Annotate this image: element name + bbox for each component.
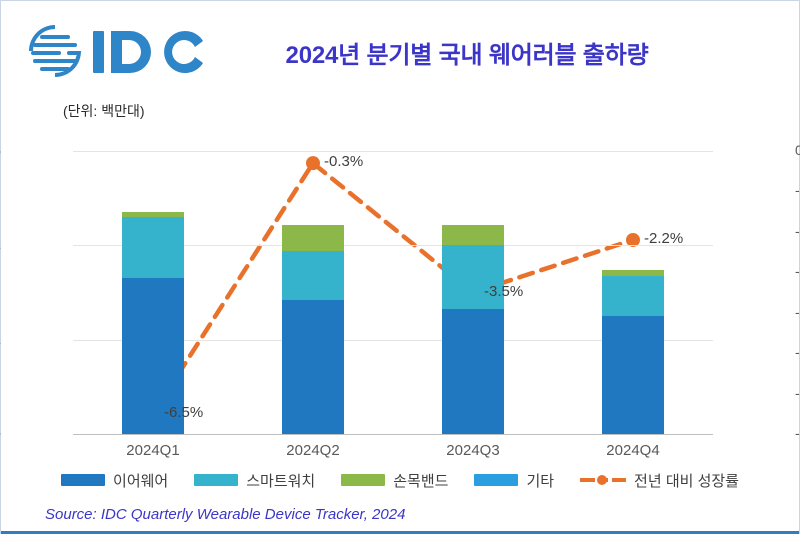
bar-segment-이어웨어[interactable]: [282, 300, 344, 434]
bar-segment-손목밴드[interactable]: [282, 225, 344, 251]
y-axis-left-tick: 1: [0, 331, 1, 348]
legend-label: 기타: [526, 470, 554, 491]
legend-item-손목밴드[interactable]: 손목밴드: [341, 470, 448, 491]
y-axis-right-tick: -5.0%: [795, 344, 800, 360]
bar-segment-손목밴드[interactable]: [602, 270, 664, 276]
bar-segment-이어웨어[interactable]: [602, 316, 664, 434]
chart-header: 2024년 분기별 국내 웨어러블 출하량: [1, 1, 799, 97]
x-axis-tick-2024Q3: 2024Q3: [393, 442, 553, 459]
legend-label: 스마트워치: [246, 470, 315, 491]
growth-line: [153, 163, 633, 414]
x-axis-tick-2024Q4: 2024Q4: [553, 442, 713, 459]
bar-segment-스마트워치[interactable]: [442, 245, 504, 309]
growth-label-2024Q1: -6.5%: [164, 404, 203, 421]
bar-2024Q2[interactable]: [282, 151, 344, 434]
legend-swatch-icon: [341, 474, 385, 486]
bar-2024Q4[interactable]: [602, 151, 664, 434]
legend-item-기타[interactable]: 기타: [474, 470, 554, 491]
bar-segment-스마트워치[interactable]: [282, 251, 344, 300]
chart-legend: 이어웨어스마트워치손목밴드기타전년 대비 성장률: [1, 463, 799, 497]
y-axis-left-tick: -: [0, 425, 1, 442]
y-axis-left-tick: 2: [0, 236, 1, 253]
y-axis-right-tick: -6.0%: [795, 385, 800, 401]
legend-item-전년 대비 성장률[interactable]: 전년 대비 성장률: [580, 470, 739, 491]
bar-segment-손목밴드[interactable]: [442, 225, 504, 246]
x-axis-line: [73, 434, 713, 435]
x-axis-tick-2024Q2: 2024Q2: [233, 442, 393, 459]
bar-segment-손목밴드[interactable]: [122, 212, 184, 217]
y-axis-right-tick: -2.0%: [795, 223, 800, 239]
y-axis-right-tick: 0.0%: [795, 142, 800, 158]
y-axis-right-tick: -1.0%: [795, 182, 800, 198]
x-axis-tick-2024Q1: 2024Q1: [73, 442, 233, 459]
legend-item-스마트워치[interactable]: 스마트워치: [194, 470, 315, 491]
legend-label: 전년 대비 성장률: [634, 470, 739, 491]
idc-logo: [27, 23, 212, 79]
legend-swatch-icon: [194, 474, 238, 486]
growth-label-2024Q2: -0.3%: [324, 153, 363, 170]
bar-segment-스마트워치[interactable]: [122, 217, 184, 278]
legend-item-이어웨어[interactable]: 이어웨어: [61, 470, 168, 491]
legend-label: 손목밴드: [393, 470, 448, 491]
y-axis-left-tick: 3: [0, 142, 1, 159]
unit-label: (단위: 백만대): [63, 101, 145, 121]
y-axis-right-tick: -7.0%: [795, 425, 800, 441]
y-axis-right-tick: -4.0%: [795, 304, 800, 320]
bar-2024Q1[interactable]: [122, 151, 184, 434]
legend-label: 이어웨어: [113, 470, 168, 491]
legend-line-marker-icon: [580, 474, 626, 486]
source-note: Source: IDC Quarterly Wearable Device Tr…: [45, 506, 405, 523]
page-title: 2024년 분기별 국내 웨어러블 출하량: [237, 35, 697, 70]
growth-label-2024Q4: -2.2%: [644, 230, 683, 247]
growth-label-2024Q3: -3.5%: [484, 283, 523, 300]
chart-page: 2024년 분기별 국내 웨어러블 출하량 (단위: 백만대) 321-0.0%…: [0, 0, 800, 534]
plot-area: 321-0.0%-1.0%-2.0%-3.0%-4.0%-5.0%-6.0%-7…: [73, 151, 713, 434]
y-axis-right-tick: -3.0%: [795, 263, 800, 279]
bar-segment-이어웨어[interactable]: [442, 309, 504, 434]
legend-swatch-icon: [61, 474, 105, 486]
legend-swatch-icon: [474, 474, 518, 486]
bar-segment-스마트워치[interactable]: [602, 276, 664, 317]
